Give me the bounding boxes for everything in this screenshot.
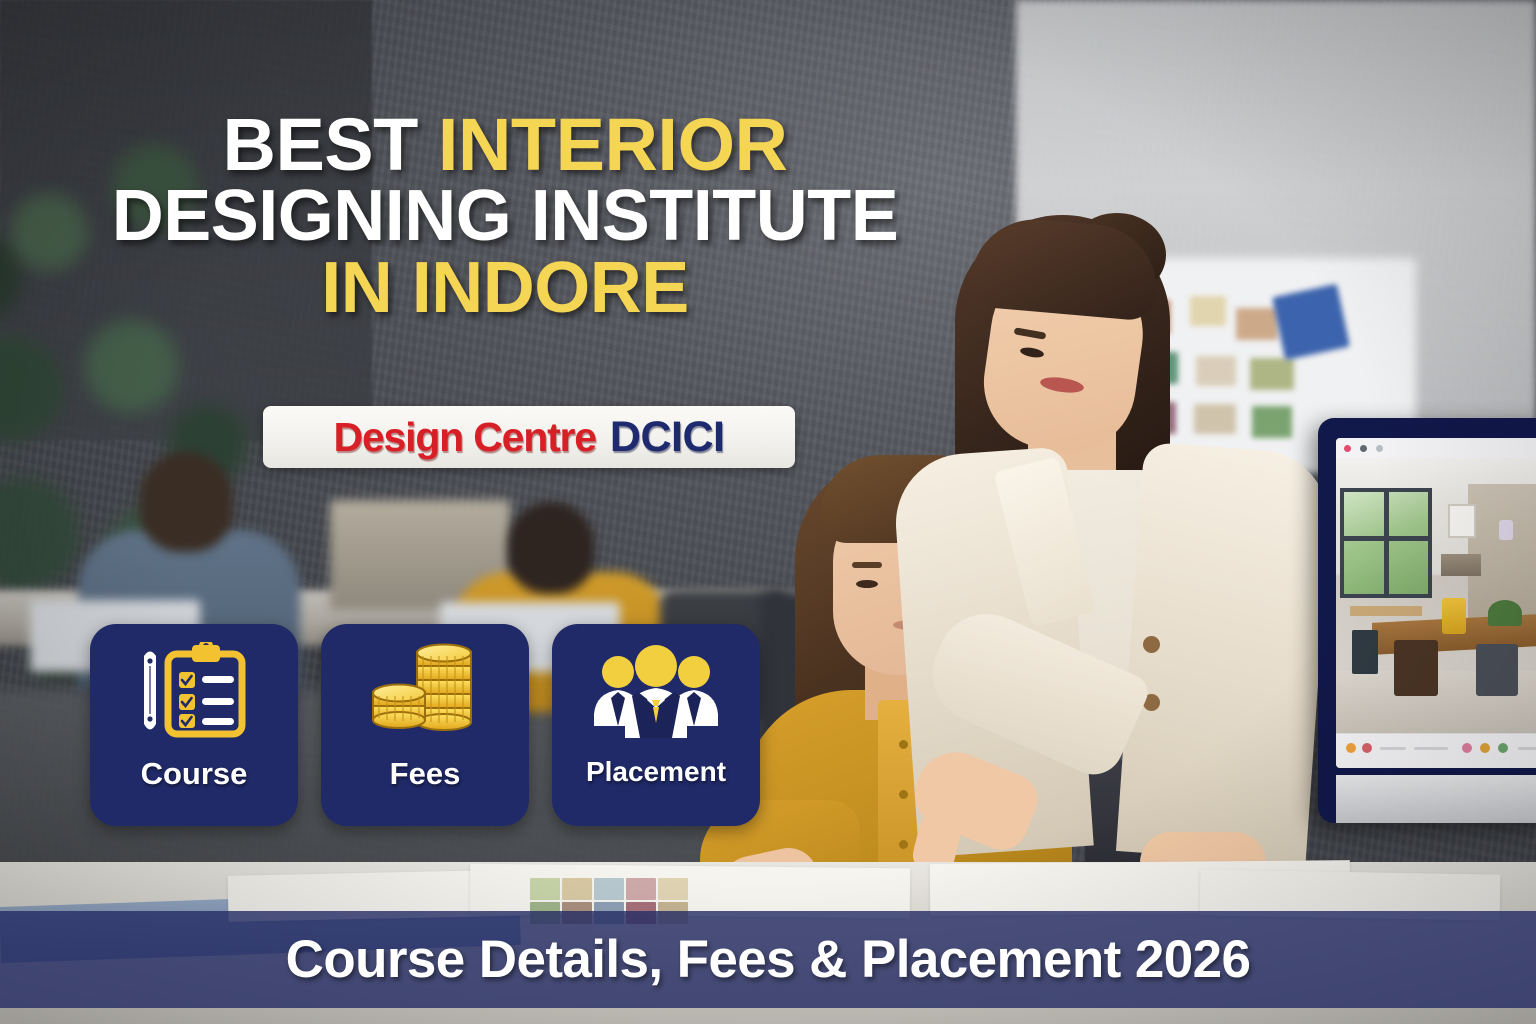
headline-line-2: DESIGNING INSTITUTE [0,181,1010,252]
feature-card-label: Placement [586,758,726,786]
headline-best: BEST [223,103,438,186]
feature-card-row: Course [90,624,760,826]
headline-interior: INTERIOR [438,103,788,186]
bottom-banner: Course Details, Fees & Placement 2026 [0,911,1536,1008]
logo-dcici-text: DCICI [610,413,725,462]
coin-stack-icon [361,642,489,746]
clipboard-checklist-icon [130,642,258,746]
feature-card-fees[interactable]: Fees [321,624,529,826]
three-people-icon [592,642,720,746]
feature-card-label: Fees [390,758,461,789]
headline-line-1: BEST INTERIOR [0,108,1010,181]
headline-block: BEST INTERIOR DESIGNING INSTITUTE IN IND… [0,108,1010,324]
feature-card-course[interactable]: Course [90,624,298,826]
poster-root: BEST INTERIOR DESIGNING INSTITUTE IN IND… [0,0,1536,1024]
feature-card-placement[interactable]: Placement [552,624,760,826]
bottom-banner-text: Course Details, Fees & Placement 2026 [286,929,1251,990]
feature-card-label: Course [141,758,248,789]
headline-line-3: IN INDORE [0,253,1010,324]
logo-design-centre-text: Design Centre [334,414,596,461]
brand-logo[interactable]: Design Centre DCICI [263,406,795,468]
